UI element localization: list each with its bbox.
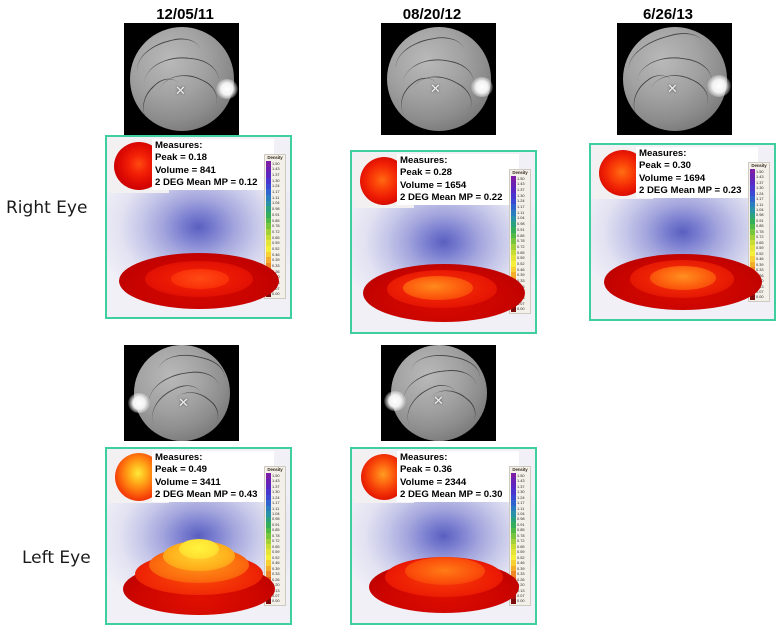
colorbar-value: 1.04 <box>516 216 525 220</box>
measures-peak: Peak = 0.36 <box>400 464 516 476</box>
measures-mean-mp-value: 0.30 <box>484 489 503 500</box>
colorbar-value: 0.78 <box>271 224 280 228</box>
colorbar-value: 1.11 <box>516 211 524 215</box>
measures-peak-value: 0.36 <box>433 464 452 475</box>
colorbar-value: 0.91 <box>516 228 525 232</box>
colorbar-value: 1.17 <box>271 501 280 505</box>
colorbar-value: 0.85 <box>516 234 525 238</box>
measures-mean-mp-value: 0.43 <box>239 489 258 500</box>
measures-volume: Volume = 2344 <box>400 477 516 489</box>
mp-panel-right-eye-visit-3[interactable]: Measures: Peak = 0.30 Volume = 1694 2 DE… <box>589 143 776 321</box>
measures-box: Measures: Peak = 0.36 Volume = 2344 2 DE… <box>397 451 519 502</box>
measures-volume-value: 1694 <box>684 173 705 184</box>
fundus-image-right-eye-visit-1: ✕ <box>124 23 239 135</box>
row-label-right-eye: Right Eye <box>6 198 87 218</box>
mp-panel-left-eye-visit-1[interactable]: Measures: Peak = 0.49 Volume = 3411 2 DE… <box>105 447 292 625</box>
column-date-visit-2: 08/20/12 <box>368 6 496 23</box>
mp-panel-right-eye-visit-1[interactable]: Measures: Peak = 0.18 Volume = 841 2 DEG… <box>105 135 292 319</box>
colorbar-value: 1.43 <box>271 479 280 483</box>
colorbar-value: 1.04 <box>755 208 764 212</box>
colorbar-value: 1.50 <box>271 474 280 478</box>
fovea-marker-icon: ✕ <box>430 83 441 96</box>
colorbar-value: 0.91 <box>271 523 280 527</box>
measures-heading: Measures: <box>400 155 516 167</box>
surface-plot <box>604 246 762 310</box>
measures-peak-value: 0.30 <box>672 160 691 171</box>
mp-panel-left-eye-visit-2[interactable]: Measures: Peak = 0.36 Volume = 2344 2 DE… <box>350 447 537 625</box>
measures-volume: Volume = 1654 <box>400 180 516 192</box>
optic-nerve-head <box>216 79 238 99</box>
measures-peak-value: 0.28 <box>433 167 452 178</box>
colorbar-value: 1.17 <box>516 205 525 209</box>
colorbar-value: 0.85 <box>516 528 525 532</box>
colorbar-value: 0.78 <box>516 239 525 243</box>
fovea-marker-icon: ✕ <box>178 397 189 410</box>
fundus-image-left-eye-visit-1: ✕ <box>124 345 239 441</box>
optic-nerve-head <box>384 391 406 411</box>
measures-volume-value: 1654 <box>445 180 466 191</box>
measures-peak: Peak = 0.18 <box>155 152 271 164</box>
colorbar-value: 0.65 <box>755 241 764 245</box>
measures-volume: Volume = 1694 <box>639 173 755 185</box>
surface-layer <box>403 276 473 300</box>
colorbar-value: 1.04 <box>271 201 280 205</box>
measures-mean-mp-value: 0.22 <box>484 192 503 203</box>
surface-plot <box>119 247 279 309</box>
measures-mean-mp: 2 DEG Mean MP = 0.30 <box>400 489 516 501</box>
colorbar-value: 0.72 <box>271 230 280 234</box>
colorbar-value: 1.24 <box>516 199 525 203</box>
colorbar-value: 0.59 <box>271 241 280 245</box>
measures-peak: Peak = 0.28 <box>400 167 516 179</box>
colorbar-value: 1.11 <box>516 507 524 511</box>
colorbar-value: 0.72 <box>516 245 525 249</box>
colorbar-value: 1.11 <box>755 203 763 207</box>
column-date-visit-1: 12/05/11 <box>121 6 249 23</box>
colorbar-value: 1.30 <box>755 186 764 190</box>
colorbar-value: 1.04 <box>516 512 525 516</box>
colorbar-value: 1.04 <box>271 512 280 516</box>
colorbar-value: 1.37 <box>516 188 525 192</box>
column-date-visit-3: 6/26/13 <box>604 6 732 23</box>
colorbar-value: 1.11 <box>271 507 279 511</box>
fovea-marker-icon: ✕ <box>667 83 678 96</box>
measures-mean-mp: 2 DEG Mean MP = 0.12 <box>155 177 271 189</box>
colorbar-value: 0.98 <box>755 213 764 217</box>
row-label-left-eye: Left Eye <box>22 548 91 568</box>
colorbar-value: 1.17 <box>755 197 764 201</box>
colorbar-value: 1.43 <box>271 167 280 171</box>
colorbar-value: 0.98 <box>271 207 280 211</box>
colorbar-value: 1.17 <box>271 190 280 194</box>
surface-plot <box>369 543 519 613</box>
colorbar-value: 0.78 <box>755 230 764 234</box>
colorbar-value: 1.24 <box>271 184 280 188</box>
measures-mean-mp-value: 0.23 <box>723 185 742 196</box>
measures-peak: Peak = 0.49 <box>155 464 271 476</box>
colorbar-value: 1.50 <box>516 474 525 478</box>
colorbar-value: 0.72 <box>755 235 764 239</box>
measures-peak-value: 0.18 <box>188 152 207 163</box>
surface-layer <box>171 269 229 289</box>
measures-volume: Volume = 3411 <box>155 477 271 489</box>
figure-canvas: 12/05/11 08/20/12 6/26/13 Right Eye Left… <box>0 0 776 632</box>
measures-peak: Peak = 0.30 <box>639 160 755 172</box>
fundus-image-right-eye-visit-3: ✕ <box>617 23 732 135</box>
colorbar-value: 0.91 <box>755 219 764 223</box>
colorbar-value: 1.17 <box>516 501 525 505</box>
surface-plot <box>363 256 525 322</box>
surface-layer <box>405 557 485 585</box>
measures-volume: Volume = 841 <box>155 165 271 177</box>
measures-mean-mp-value: 0.12 <box>239 177 258 188</box>
colorbar-value: 1.24 <box>516 496 525 500</box>
measures-volume-value: 2344 <box>445 477 466 488</box>
colorbar-value: 0.65 <box>271 236 280 240</box>
colorbar-value: 0.78 <box>516 534 525 538</box>
fundus-image-right-eye-visit-2: ✕ <box>381 23 496 135</box>
colorbar-value: 0.98 <box>516 222 525 226</box>
measures-mean-mp: 2 DEG Mean MP = 0.22 <box>400 192 516 204</box>
colorbar-value: 1.43 <box>516 479 525 483</box>
measures-heading: Measures: <box>400 452 516 464</box>
measures-peak-value: 0.49 <box>188 464 207 475</box>
measures-mean-mp: 2 DEG Mean MP = 0.23 <box>639 185 755 197</box>
colorbar-value: 1.30 <box>271 179 280 183</box>
fovea-marker-icon: ✕ <box>175 85 186 98</box>
optic-nerve-head <box>128 393 150 413</box>
surface-layer <box>179 539 219 559</box>
colorbar-value: 1.24 <box>755 192 764 196</box>
colorbar-value: 1.50 <box>516 177 525 181</box>
colorbar-value: 1.37 <box>271 173 280 177</box>
measures-heading: Measures: <box>155 140 271 152</box>
measures-mean-mp: 2 DEG Mean MP = 0.43 <box>155 489 271 501</box>
fundus-image-left-eye-visit-2: ✕ <box>381 345 496 441</box>
measures-box: Measures: Peak = 0.49 Volume = 3411 2 DE… <box>152 451 274 502</box>
measures-heading: Measures: <box>639 148 755 160</box>
measures-box: Measures: Peak = 0.28 Volume = 1654 2 DE… <box>397 154 519 205</box>
colorbar-value: 1.30 <box>516 194 525 198</box>
optic-nerve-head <box>471 77 493 97</box>
colorbar-value: 0.98 <box>516 517 525 521</box>
surface-plot <box>123 529 275 615</box>
measures-heading: Measures: <box>155 452 271 464</box>
colorbar-value: 1.43 <box>755 175 764 179</box>
colorbar-value: 0.98 <box>271 517 280 521</box>
colorbar-value: 1.37 <box>271 485 280 489</box>
colorbar-value: 0.91 <box>516 523 525 527</box>
colorbar-value: 1.37 <box>516 485 525 489</box>
measures-box: Measures: Peak = 0.30 Volume = 1694 2 DE… <box>636 147 758 198</box>
measures-volume-value: 3411 <box>200 477 221 488</box>
colorbar-value: 0.85 <box>271 219 280 223</box>
colorbar-value: 0.65 <box>516 251 525 255</box>
optic-nerve-head <box>707 75 731 97</box>
colorbar-value: 1.43 <box>516 182 525 186</box>
fovea-marker-icon: ✕ <box>433 395 444 408</box>
surface-layer <box>650 266 716 290</box>
colorbar-value: 1.37 <box>755 181 764 185</box>
colorbar-value: 1.50 <box>271 162 280 166</box>
colorbar-value: 0.85 <box>755 224 764 228</box>
measures-volume-value: 841 <box>200 165 216 176</box>
colorbar-value: 1.30 <box>516 490 525 494</box>
colorbar-value: 1.11 <box>271 196 279 200</box>
colorbar-value: 0.91 <box>271 213 280 217</box>
colorbar-value: 1.50 <box>755 170 764 174</box>
mp-panel-right-eye-visit-2[interactable]: Measures: Peak = 0.28 Volume = 1654 2 DE… <box>350 150 537 334</box>
measures-box: Measures: Peak = 0.18 Volume = 841 2 DEG… <box>152 139 274 190</box>
colorbar-value: 1.30 <box>271 490 280 494</box>
colorbar-value: 1.24 <box>271 496 280 500</box>
